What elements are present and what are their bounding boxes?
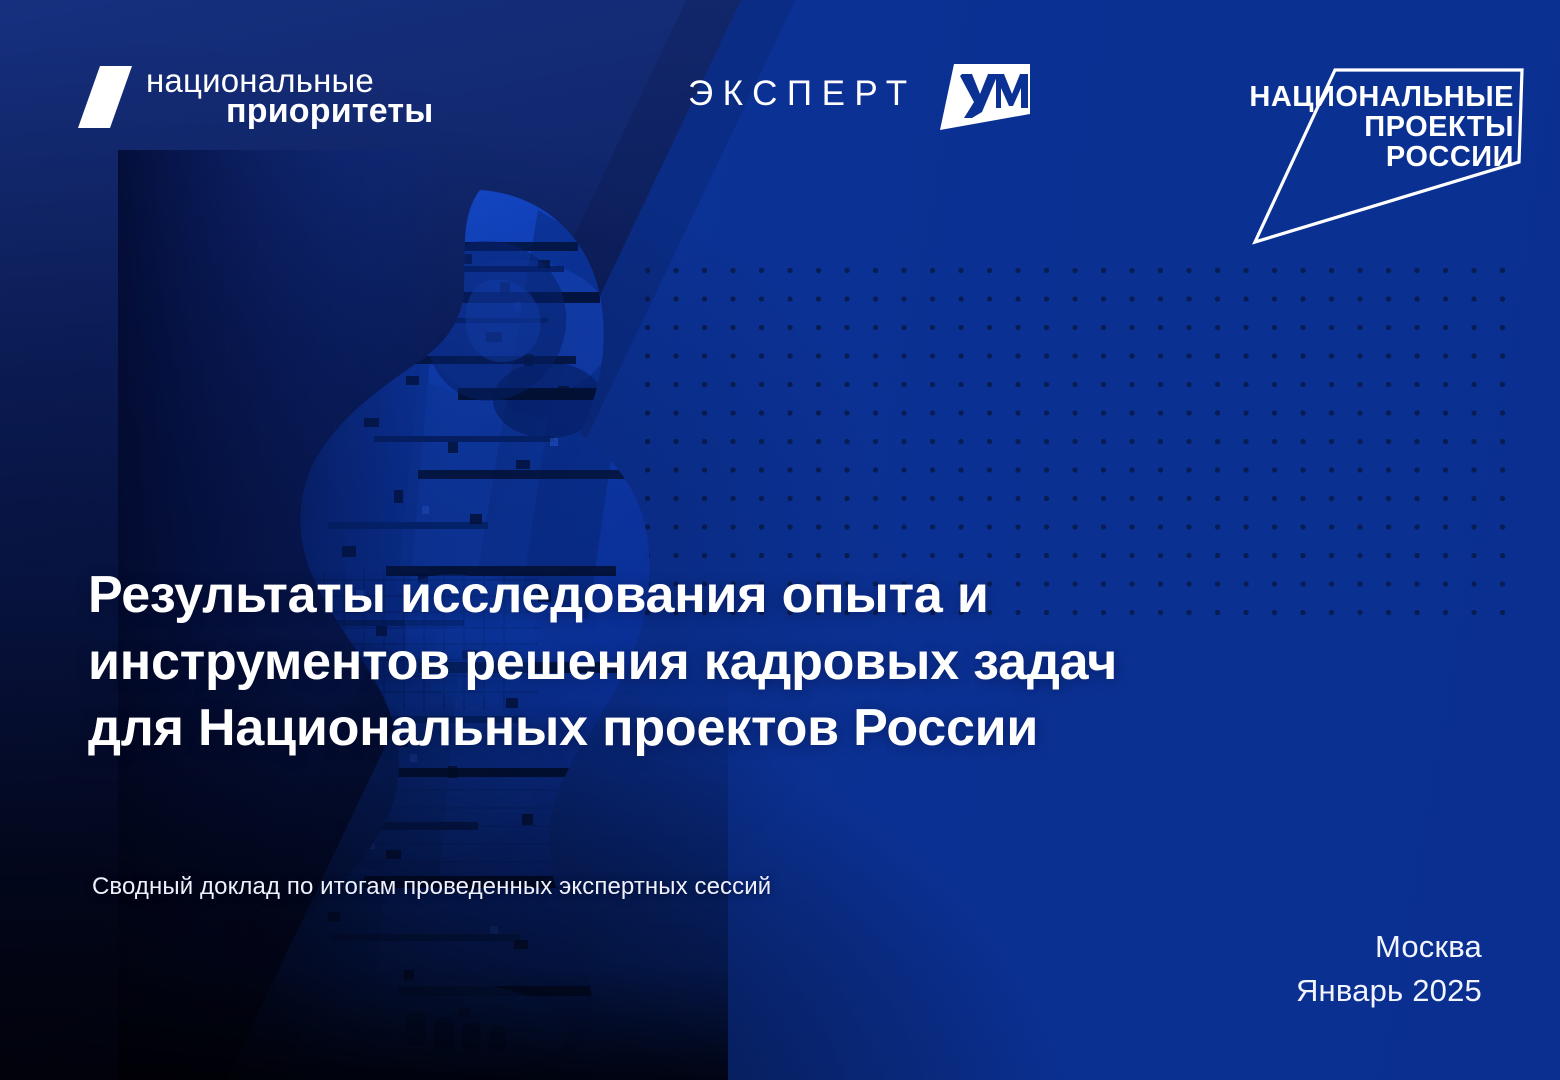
logo-national-priorities[interactable]: национальные приоритеты — [78, 62, 458, 142]
logo-expertum[interactable]: ЭКСПЕРТ — [688, 64, 1028, 140]
npr-line3: РОССИИ — [1386, 141, 1514, 173]
logo-expertum-word: ЭКСПЕРТ — [688, 76, 917, 111]
page-title: Результаты исследования опыта и инструме… — [88, 562, 1388, 762]
logo-national-priorities-line2: приоритеты — [226, 94, 433, 128]
date-label: Январь 2025 — [1296, 969, 1482, 1013]
npr-line1: НАЦИОНАЛЬНЫЕ — [1249, 81, 1514, 113]
expertum-flag-icon — [934, 58, 1030, 136]
slash-mark-icon — [78, 66, 132, 128]
npr-line2: ПРОЕКТЫ — [1364, 111, 1514, 143]
place-and-date: Москва Январь 2025 — [1296, 925, 1482, 1013]
title-slide: национальные приоритеты ЭКСПЕРТ НАЦИОНАЛ… — [0, 0, 1560, 1080]
logo-national-projects-russia[interactable]: НАЦИОНАЛЬНЫЕ ПРОЕКТЫ РОССИИ — [1243, 52, 1526, 252]
city-label: Москва — [1296, 925, 1482, 969]
page-subtitle: Сводный доклад по итогам проведенных экс… — [92, 873, 771, 901]
